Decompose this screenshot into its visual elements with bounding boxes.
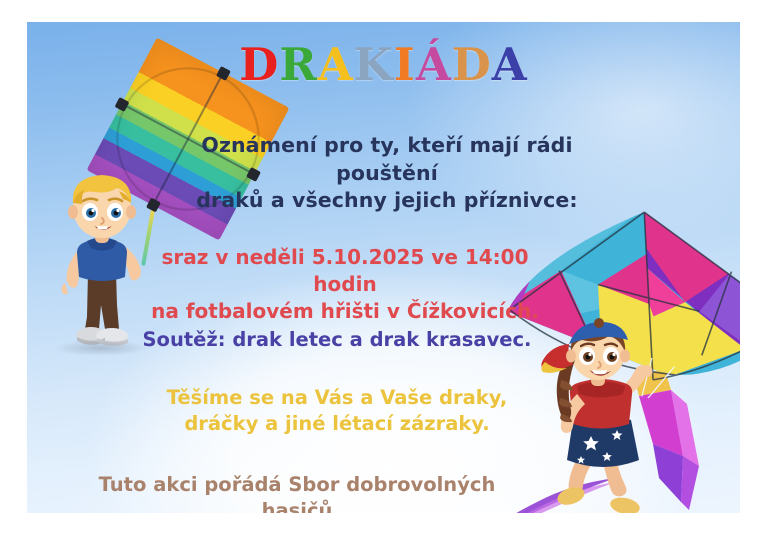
title-letter-d1: D [239,38,279,91]
title-letter-r: R [279,38,317,91]
drakiada-poster: DRAKIÁDA Oznámení pro ty, kteří mají rád… [27,22,740,513]
wish-text: Těšíme se na Vás a Vaše draky, dráčky a … [127,385,547,438]
organizer-text: Tuto akci pořádá Sbor dobrovolných hasič… [62,472,532,513]
screenshot-canvas: DRAKIÁDA Oznámení pro ty, kteří mají rád… [0,0,765,540]
competition-text: Soutěž: drak letec a drak krasavec. [127,327,547,353]
girl-flying-kite [533,310,669,513]
title-letter-d2: D [452,38,492,91]
intro-text: Oznámení pro ty, kteří mají rádi pouštěn… [177,132,597,215]
title-letter-a2: A [492,38,528,91]
title-letter-aacute: Á [416,38,452,91]
girl-figure [533,310,669,513]
event-details-text: sraz v neděli 5.10.2025 ve 14:00 hodin n… [135,244,555,325]
title-letter-a1: A [318,38,354,91]
title-letter-k: K [354,38,394,91]
page-title: DRAKIÁDA [27,42,740,87]
title-letter-i: I [394,38,416,91]
